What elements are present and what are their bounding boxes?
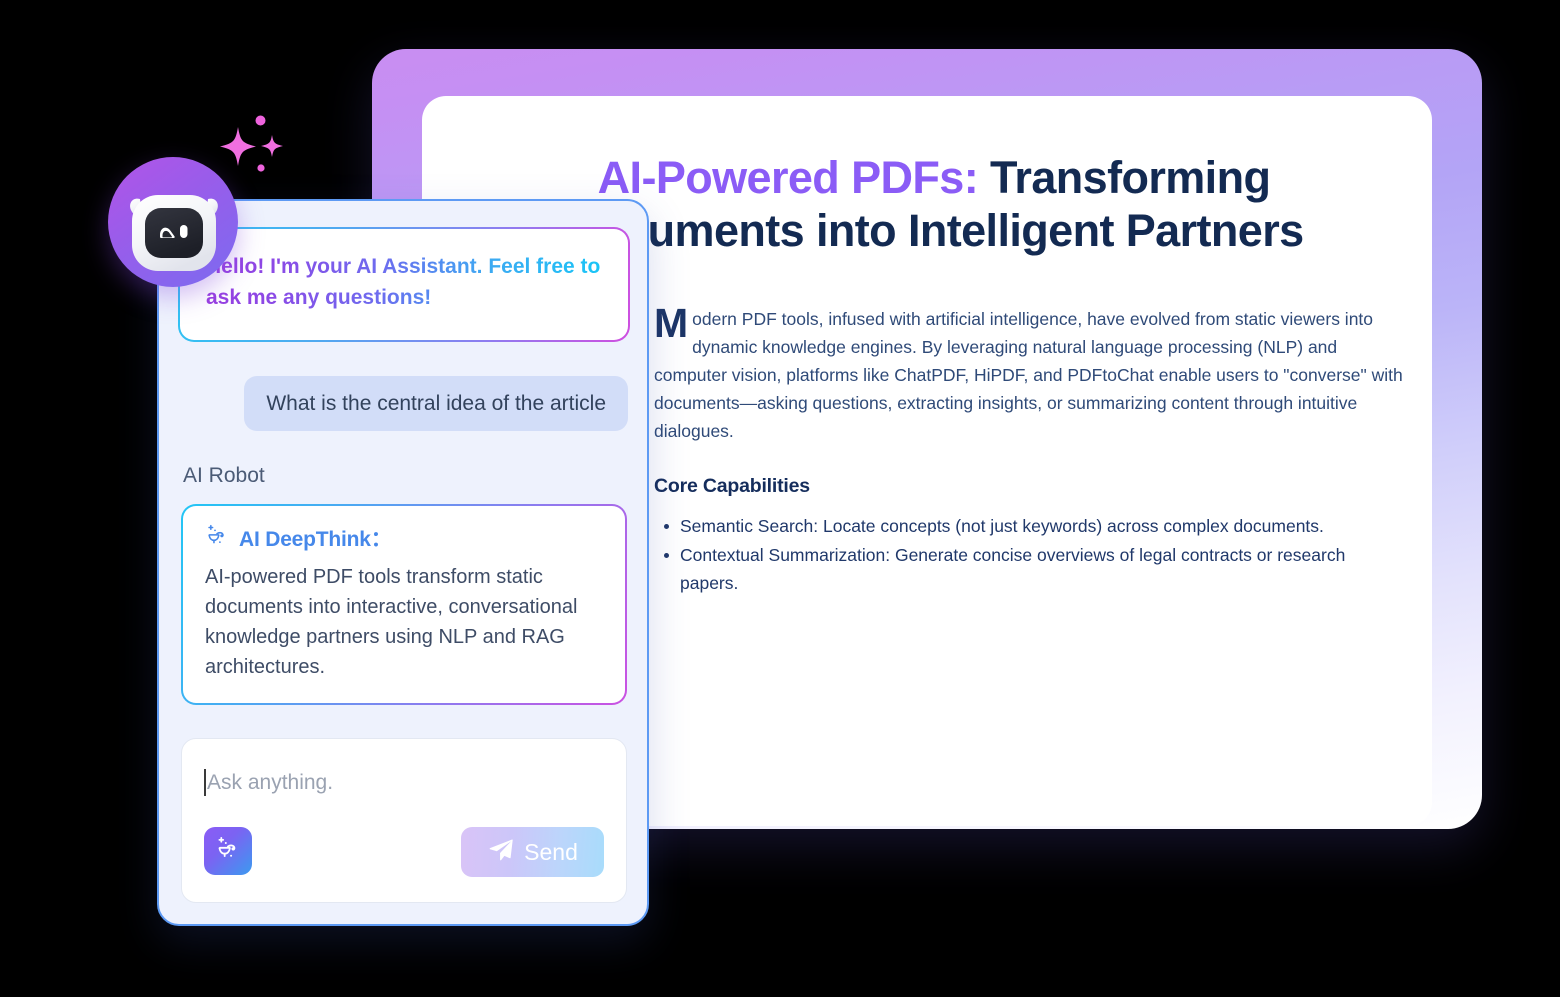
text-caret bbox=[204, 769, 206, 796]
list-item: Semantic Search: Locate concepts (not ju… bbox=[680, 512, 1404, 540]
deepthink-header: AI DeepThink： bbox=[205, 523, 603, 553]
deepthink-answer-text: AI-powered PDF tools transform static do… bbox=[205, 562, 603, 682]
deepthink-toggle-button[interactable] bbox=[204, 827, 252, 875]
user-message-bubble: What is the central idea of the article bbox=[244, 376, 628, 431]
capabilities-heading: Core Capabilities bbox=[654, 475, 1404, 498]
page-title-accent: AI-Powered PDFs: bbox=[598, 152, 978, 203]
message-input-placeholder[interactable]: Ask anything. bbox=[207, 771, 333, 795]
assistant-name-label: AI Robot bbox=[183, 464, 265, 488]
assistant-greeting-bubble: Hello! I'm your AI Assistant. Feel free … bbox=[178, 227, 630, 342]
send-button-label: Send bbox=[524, 839, 578, 866]
assistant-greeting-text: Hello! I'm your AI Assistant. Feel free … bbox=[206, 251, 602, 313]
paper-plane-icon bbox=[487, 836, 515, 869]
deepthink-answer-card: AI DeepThink： AI-powered PDF tools trans… bbox=[181, 504, 627, 705]
send-button[interactable]: Send bbox=[461, 827, 604, 877]
capabilities-list: Semantic Search: Locate concepts (not ju… bbox=[654, 512, 1404, 597]
deepthink-label: AI DeepThink： bbox=[239, 523, 392, 553]
magic-wand-sparkle-icon bbox=[205, 523, 230, 553]
message-composer[interactable]: Ask anything. Send bbox=[181, 738, 627, 903]
magic-wand-sparkle-icon bbox=[215, 835, 242, 867]
deepthink-answer-inner: AI DeepThink： AI-powered PDF tools trans… bbox=[183, 506, 625, 703]
article-paragraph: Modern PDF tools, infused with artificia… bbox=[654, 305, 1404, 445]
ai-assistant-chat-panel: Hello! I'm your AI Assistant. Feel free … bbox=[157, 199, 649, 926]
article-paragraph-text: odern PDF tools, infused with artificial… bbox=[654, 309, 1403, 441]
drop-cap: M bbox=[654, 306, 692, 341]
assistant-greeting-inner: Hello! I'm your AI Assistant. Feel free … bbox=[180, 229, 628, 340]
sparkle-icon bbox=[204, 111, 299, 196]
list-item: Contextual Summarization: Generate conci… bbox=[680, 541, 1404, 597]
article-column: Modern PDF tools, infused with artificia… bbox=[654, 297, 1404, 709]
ai-robot-avatar bbox=[108, 157, 240, 289]
composer-input-row[interactable]: Ask anything. bbox=[204, 769, 333, 796]
